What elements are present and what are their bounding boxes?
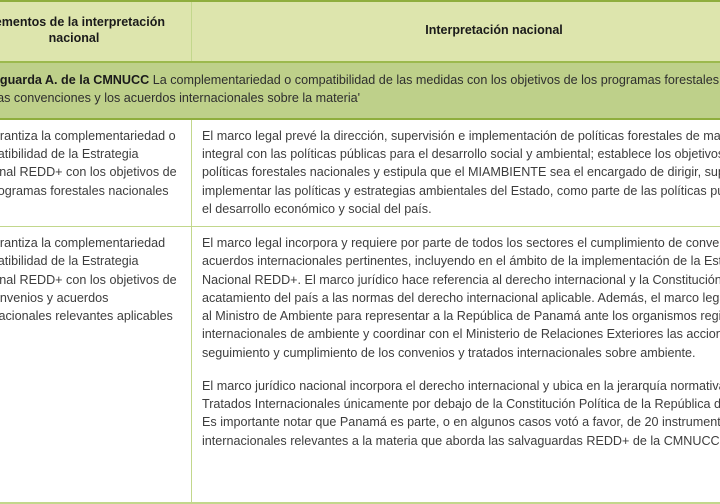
header-row: Elementos de la interpretación nacional … [0,1,720,62]
table-row: Se garantiza la complementariedad o comp… [0,119,720,227]
table-row: Se garantiza la complementariedad compat… [0,227,720,503]
cell-elementos: Se garantiza la complementariedad compat… [0,227,192,503]
national-interpretation-table: Elementos de la interpretación nacional … [0,0,720,504]
paragraph: El marco legal incorpora y requiere por … [202,234,720,362]
cell-interpretacion: El marco legal prevé la dirección, super… [192,119,720,227]
paragraph: El marco jurídico nacional incorpora el … [202,377,720,450]
column-header-interpretacion: Interpretación nacional [192,1,720,62]
paragraph: El marco legal prevé la dirección, super… [202,127,720,218]
document-page: Elementos de la interpretación nacional … [0,0,720,504]
table-header: Elementos de la interpretación nacional … [0,1,720,62]
cell-interpretacion: El marco legal incorpora y requiere por … [192,227,720,503]
safeguard-banner-row: Salvaguarda A. de la CMNUCC La complemen… [0,62,720,119]
table-body: Salvaguarda A. de la CMNUCC La complemen… [0,62,720,503]
column-header-elementos: Elementos de la interpretación nacional [0,1,192,62]
safeguard-title: Salvaguarda A. de la CMNUCC [0,73,149,87]
cell-elementos: Se garantiza la complementariedad o comp… [0,119,192,227]
safeguard-banner-cell: Salvaguarda A. de la CMNUCC La complemen… [0,62,720,119]
